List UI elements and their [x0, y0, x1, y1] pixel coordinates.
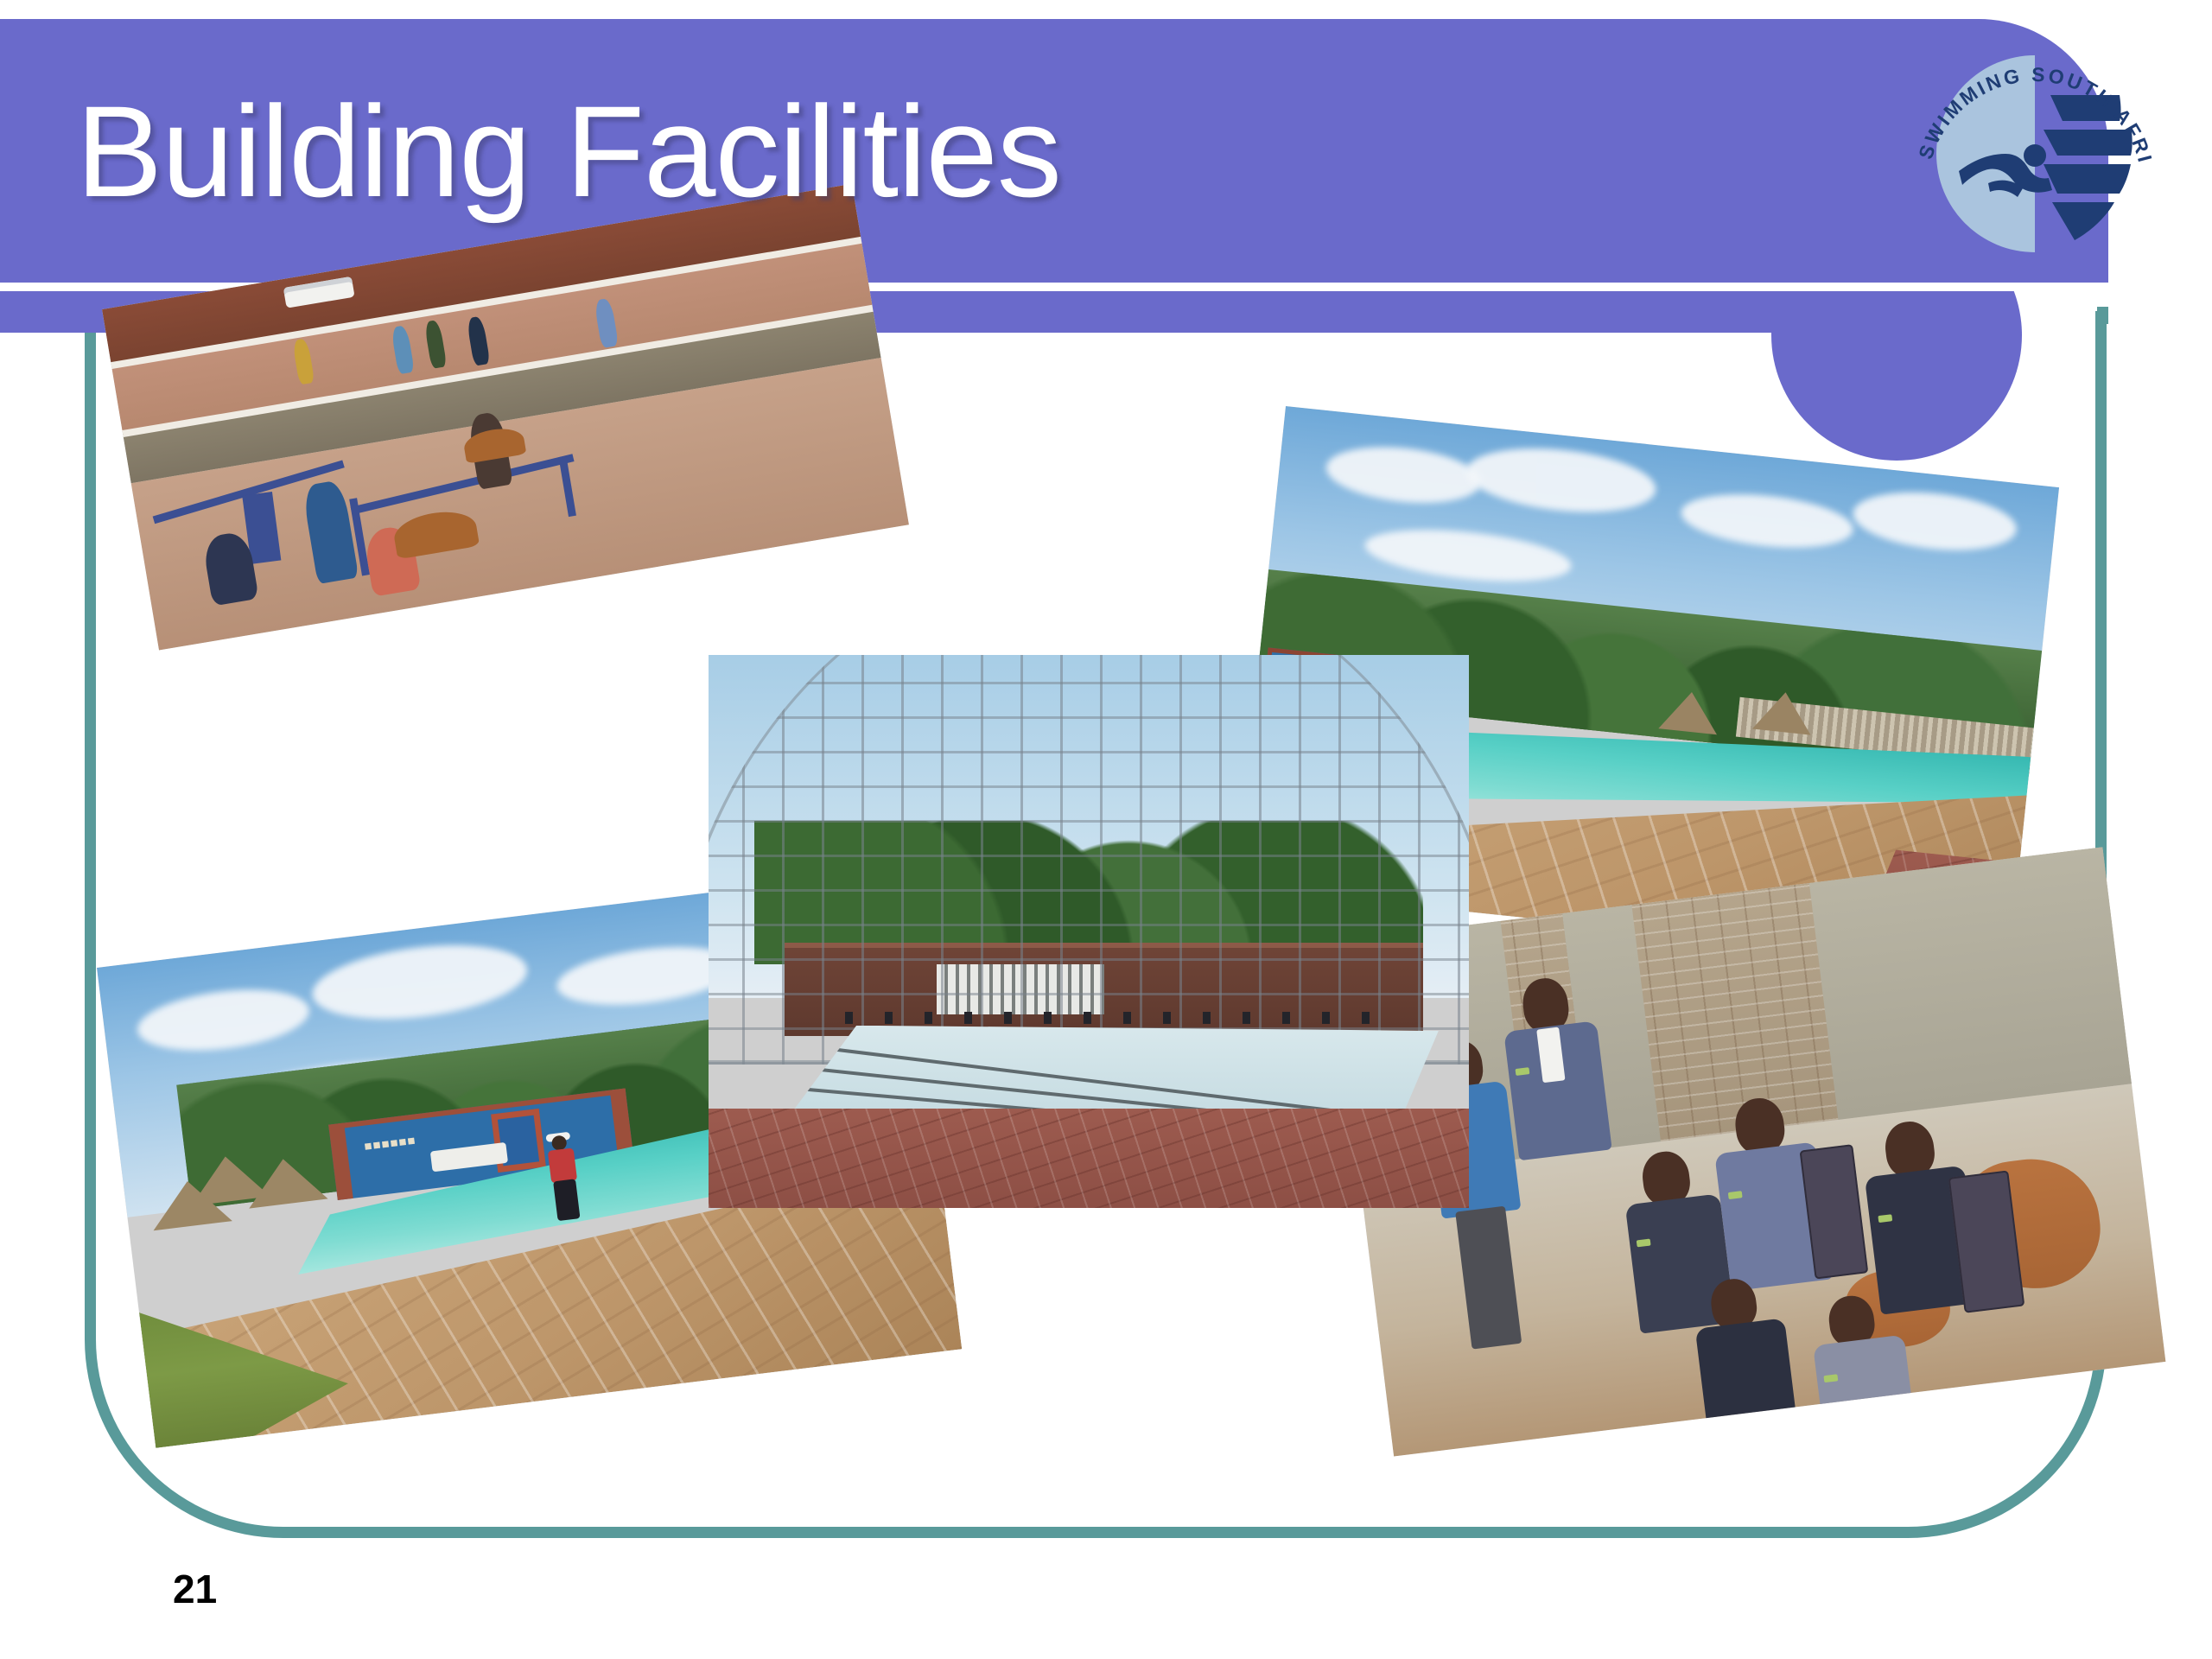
- photo-thatched-hut: [1752, 690, 1815, 735]
- photo-person-legs: [553, 1179, 580, 1221]
- photo-steel-canopy: [709, 655, 1469, 1065]
- presentation-slide: Building Facilities: [0, 0, 2212, 1659]
- page-number: 21: [173, 1566, 217, 1612]
- photo-person-torso: [547, 1147, 576, 1183]
- photo-child-crouching: [1686, 1272, 1807, 1430]
- photo-starting-blocks: [845, 1012, 1393, 1024]
- photo-thatched-hut: [148, 1176, 232, 1230]
- photo-child-crouching: [1806, 1288, 1926, 1438]
- photo-child-jacket: [1695, 1318, 1796, 1423]
- frame-right-stub: [2097, 307, 2108, 324]
- photo-covered-pool: [709, 655, 1469, 1208]
- photo-child-legs: [1455, 1206, 1522, 1350]
- photo-child-shirt: [1813, 1335, 1914, 1432]
- photo-thatched-hut: [244, 1154, 328, 1209]
- page-title: Building Facilities: [76, 86, 1061, 216]
- photo-plaster-column: [1809, 847, 2132, 1120]
- swimming-south-africa-logo: SWIMMING SOUTH AFRICA: [1905, 24, 2164, 283]
- photo-brick-deck: [709, 1109, 1469, 1208]
- photo-thatched-hut: [1658, 689, 1720, 734]
